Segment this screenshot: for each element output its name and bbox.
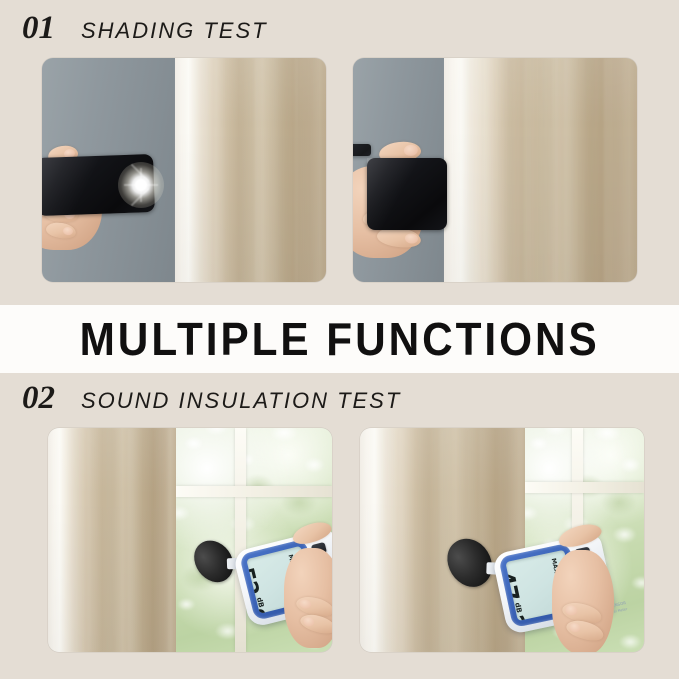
- curtain-pleats: [48, 428, 176, 652]
- section-title-01: SHADING TEST: [81, 20, 268, 42]
- fingernail: [404, 233, 418, 245]
- banner-multiple-functions: MULTIPLE FUNCTIONS: [0, 305, 679, 373]
- panel-shading-flashlight-on: [42, 58, 326, 282]
- panel-sound-curtain-open: 52.9 dB MAX SMART SENSOR Sound Level Met…: [48, 428, 332, 652]
- fingernail: [564, 604, 578, 617]
- fingernail: [302, 616, 315, 628]
- banner-title: MULTIPLE FUNCTIONS: [79, 312, 599, 366]
- infographic-page: 01 SHADING TEST: [0, 0, 679, 679]
- section-number-02: 02: [22, 382, 55, 415]
- panel-shading-flashlight-blocked: [353, 58, 637, 282]
- phone-screen-sheen: [367, 158, 447, 230]
- flash-ray: [124, 184, 158, 186]
- smartphone-icon: [367, 158, 447, 230]
- window-mullion-horizontal: [525, 482, 644, 493]
- section-heading-02: 02 SOUND INSULATION TEST: [22, 382, 401, 415]
- curtain-fabric: [48, 428, 176, 652]
- curtain-pleats: [175, 58, 326, 282]
- fingernail: [403, 144, 418, 156]
- section-number-01: 01: [22, 12, 55, 45]
- fingernail: [298, 598, 312, 610]
- curtain-fabric: [175, 58, 326, 282]
- curtain-fabric: [444, 58, 637, 282]
- section-heading-01: 01 SHADING TEST: [22, 12, 268, 45]
- fingernail: [568, 622, 581, 634]
- fingernail: [62, 226, 73, 235]
- curtain-pleats: [444, 58, 637, 282]
- panel-sound-curtain-closed: 47.2 dB MAX SMART SENSOR Sound Level Met…: [360, 428, 644, 652]
- window-mullion-horizontal: [176, 486, 332, 497]
- section-title-02: SOUND INSULATION TEST: [81, 390, 401, 412]
- phone-edge: [353, 144, 371, 156]
